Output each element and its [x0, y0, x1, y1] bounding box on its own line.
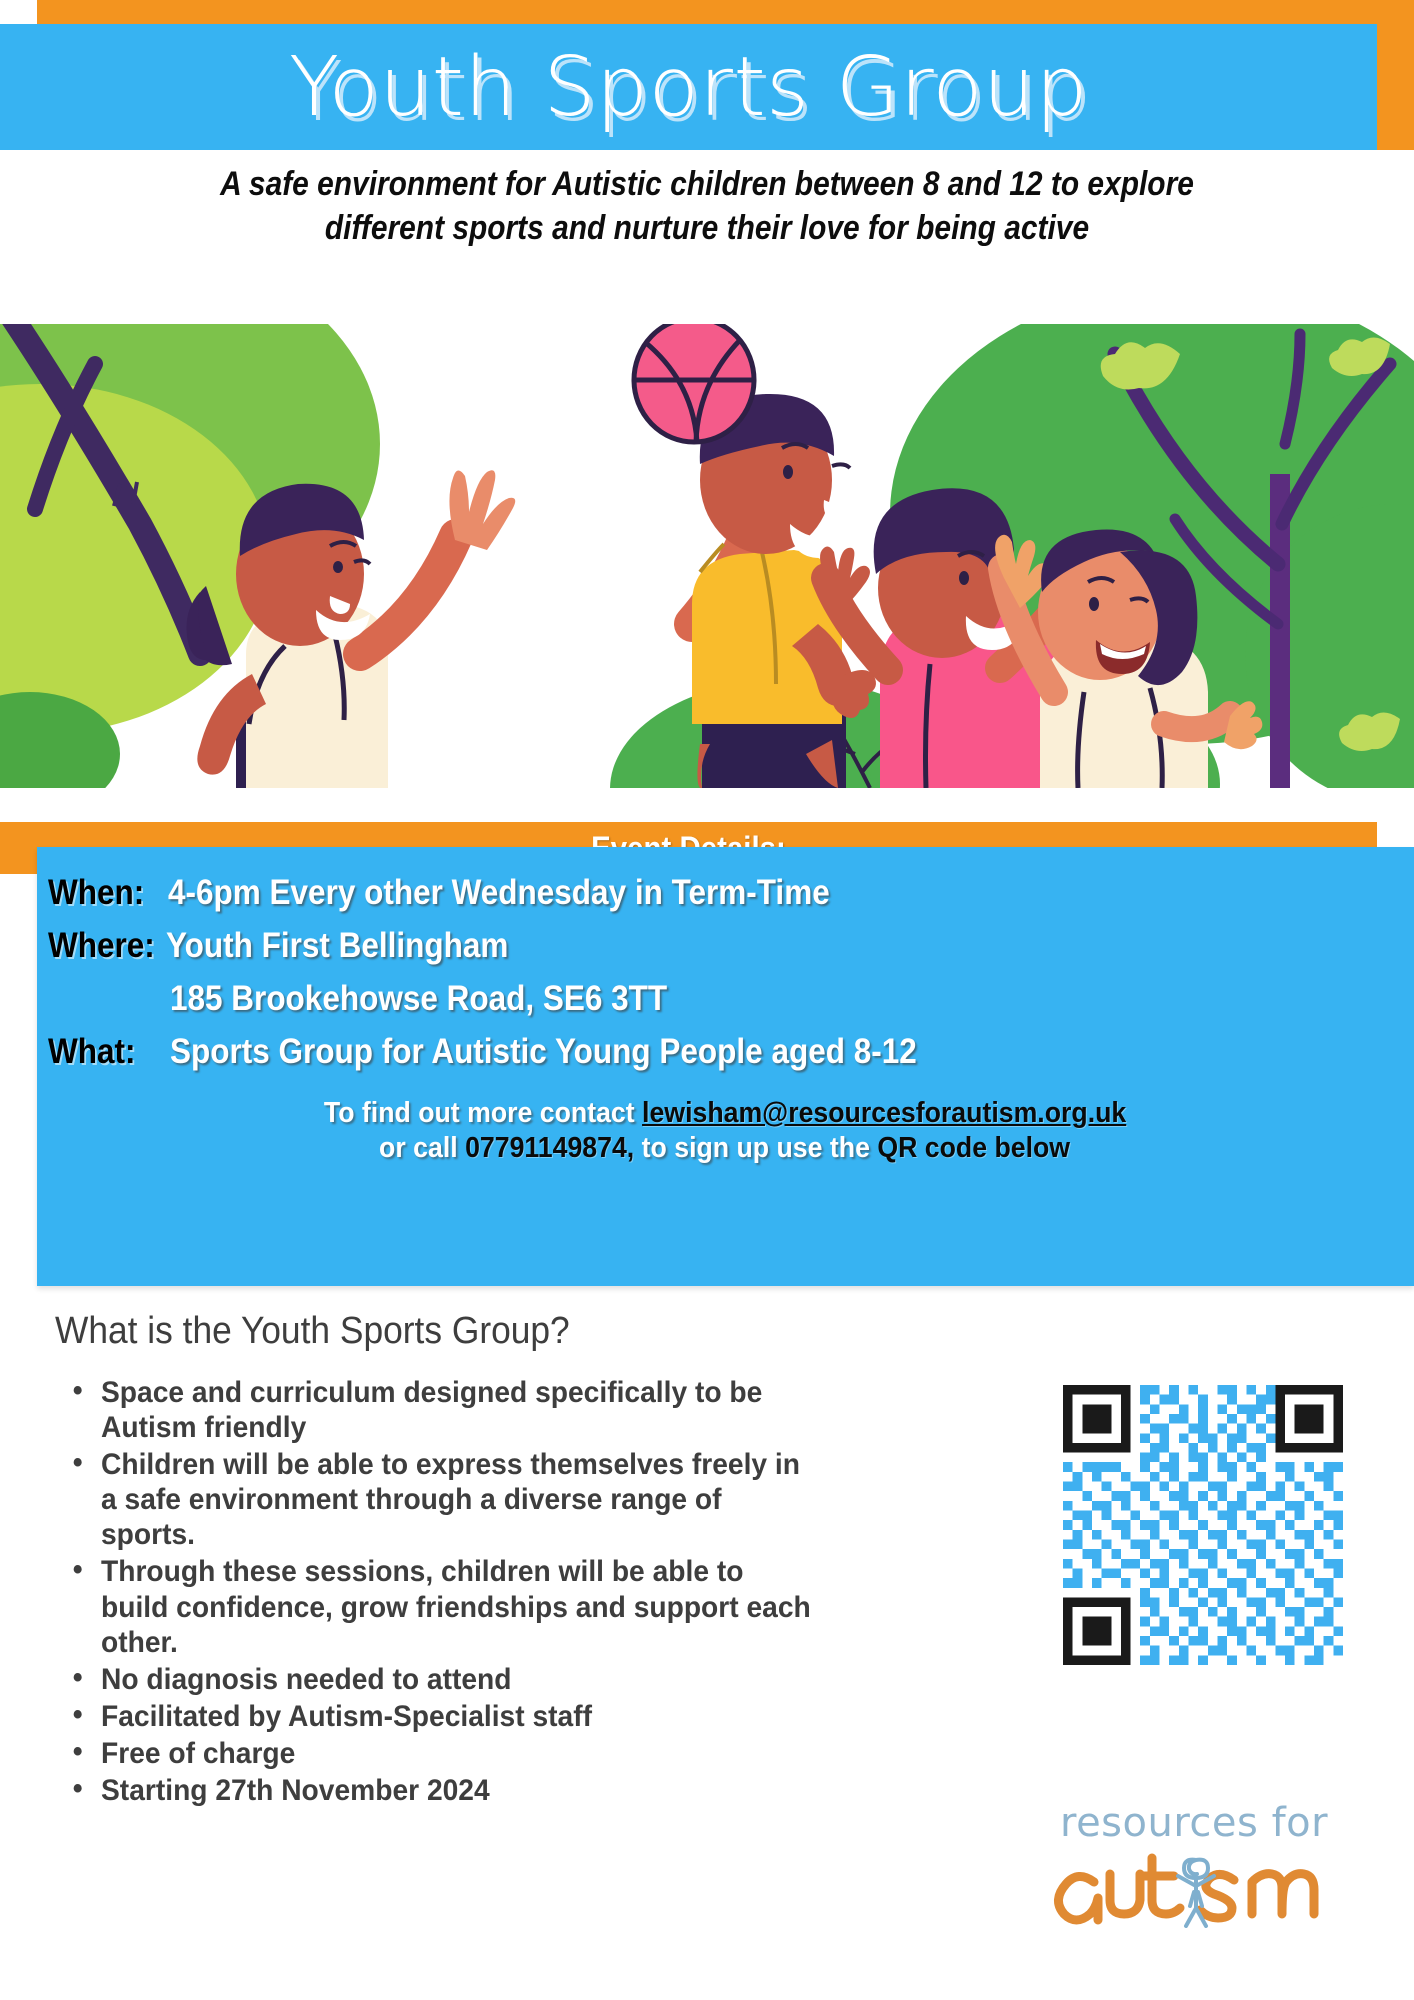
contact-signup-prefix: to sign up use the [635, 1132, 878, 1164]
contact-phone[interactable]: 07791149874, [466, 1132, 635, 1164]
children-playing-illustration [0, 324, 1414, 788]
contact-information: To find out more contact lewisham@resour… [60, 1096, 1390, 1167]
benefits-list: Space and curriculum designed specifical… [55, 1375, 861, 1810]
poster-subtitle: A safe environment for Autistic children… [111, 163, 1303, 250]
detail-row-where: Where: Youth First Bellingham [48, 926, 546, 966]
list-item: Facilitated by Autism-Specialist staff [101, 1699, 815, 1734]
qr-code[interactable] [1063, 1385, 1343, 1665]
section-heading: What is the Youth Sports Group? [55, 1310, 570, 1353]
contact-line-2: or call 07791149874, to sign up use the … [379, 1131, 1070, 1166]
detail-row-when: When: 4-6pm Every other Wednesday in Ter… [48, 873, 903, 913]
when-value: 4-6pm Every other Wednesday in Term-Time [168, 873, 830, 913]
subtitle-line-1: A safe environment for Autistic children… [111, 163, 1303, 207]
contact-qr-note: QR code below [878, 1132, 1071, 1164]
detail-row-what: What: Sports Group for Autistic Young Pe… [48, 1032, 1000, 1072]
contact-line-1: To find out more contact lewisham@resour… [324, 1096, 1126, 1131]
list-item: No diagnosis needed to attend [101, 1662, 815, 1697]
what-label: What: [48, 1032, 158, 1072]
page-title: Youth Sports Group [0, 24, 1377, 150]
when-label: When: [48, 873, 156, 913]
subtitle-line-2: different sports and nurture their love … [111, 207, 1303, 251]
list-item: Space and curriculum designed specifical… [101, 1375, 815, 1445]
detail-row-address: 185 Brookehowse Road, SE6 3TT [170, 979, 722, 1019]
logo-wordmark [1048, 1842, 1348, 1928]
where-value: Youth First Bellingham [166, 926, 508, 966]
logo-tagline: resources for [1060, 1800, 1328, 1846]
address-value: 185 Brookehowse Road, SE6 3TT [170, 979, 667, 1019]
what-value: Sports Group for Autistic Young People a… [170, 1032, 917, 1072]
contact-email-link[interactable]: lewisham@resourcesforautism.org.uk [642, 1097, 1126, 1129]
contact-or-call: or call [379, 1132, 465, 1164]
list-item: Children will be able to express themsel… [101, 1447, 815, 1552]
list-item: Free of charge [101, 1736, 815, 1771]
where-label: Where: [48, 926, 154, 966]
pink-ball [634, 324, 754, 442]
list-item: Through these sessions, children will be… [101, 1554, 815, 1659]
contact-prefix: To find out more contact [324, 1097, 642, 1129]
list-item: Starting 27th November 2024 [101, 1773, 815, 1808]
resources-for-autism-logo: resources for [1048, 1800, 1348, 1930]
